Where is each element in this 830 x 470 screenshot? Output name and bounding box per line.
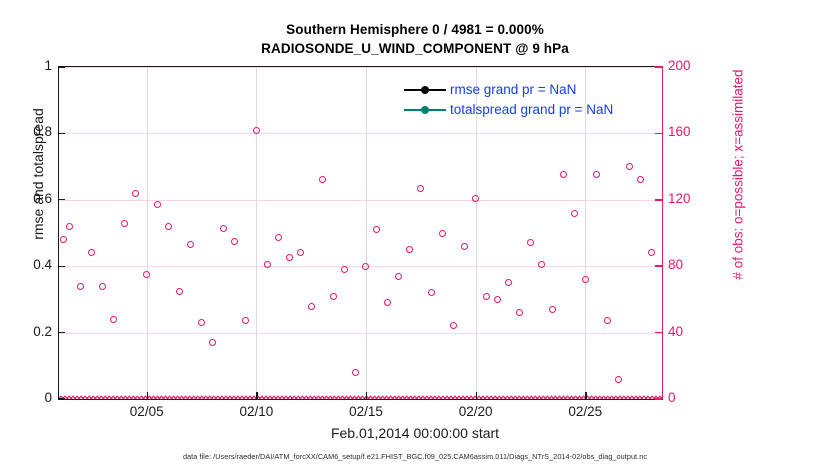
obs-possible-marker <box>428 289 435 296</box>
obs-possible-marker <box>538 261 545 268</box>
y-axis-left-tick <box>58 199 65 200</box>
obs-possible-marker <box>99 283 106 290</box>
obs-possible-marker <box>571 210 578 217</box>
legend-label-rmse: rmse grand pr = NaN <box>450 80 576 100</box>
gridline-vertical <box>147 67 148 399</box>
legend-marker-rmse-icon <box>404 84 446 96</box>
obs-possible-marker <box>66 223 73 230</box>
obs-possible-marker <box>209 339 216 346</box>
y-axis-right-tick <box>655 199 662 201</box>
legend-label-totalspread: totalspread grand pr = NaN <box>450 100 613 120</box>
obs-possible-marker <box>439 230 446 237</box>
obs-possible-marker <box>560 171 567 178</box>
obs-possible-marker <box>253 127 260 134</box>
obs-possible-marker <box>297 249 304 256</box>
y-axis-right-tick-label: 80 <box>668 257 708 272</box>
y-axis-right-tick-label: 200 <box>668 58 708 73</box>
obs-possible-marker <box>187 241 194 248</box>
chart-legend: rmse grand pr = NaN totalspread grand pr… <box>404 80 613 120</box>
obs-possible-marker <box>341 266 348 273</box>
gridline-horizontal <box>59 333 662 334</box>
x-axis-tick <box>147 392 148 399</box>
obs-possible-marker <box>450 322 457 329</box>
legend-item-totalspread[interactable]: totalspread grand pr = NaN <box>404 100 613 120</box>
y-axis-left-tick <box>58 332 65 333</box>
obs-possible-marker <box>60 236 67 243</box>
obs-possible-marker <box>352 369 359 376</box>
x-axis-tick <box>585 392 586 399</box>
obs-possible-marker <box>330 293 337 300</box>
chart-root: Southern Hemisphere 0 / 4981 = 0.000% RA… <box>0 0 830 470</box>
obs-possible-marker <box>395 273 402 280</box>
legend-marker-totalspread-icon <box>404 104 446 116</box>
x-axis-tick <box>476 392 477 399</box>
obs-possible-marker <box>176 288 183 295</box>
x-axis-tick-label: 02/10 <box>221 404 291 419</box>
y-axis-right-tick-label: 0 <box>668 390 708 405</box>
obs-possible-marker <box>308 303 315 310</box>
y-axis-left-tick-label: 0 <box>0 390 52 405</box>
obs-possible-marker <box>593 171 600 178</box>
y-axis-left-tick <box>58 398 65 399</box>
chart-title: Southern Hemisphere 0 / 4981 = 0.000% RA… <box>0 20 830 58</box>
obs-possible-marker <box>286 254 293 261</box>
y-axis-left-label: rmse and totalspread <box>30 44 46 304</box>
obs-possible-marker <box>582 276 589 283</box>
obs-possible-marker <box>319 176 326 183</box>
obs-possible-marker <box>472 195 479 202</box>
obs-possible-marker <box>373 226 380 233</box>
obs-possible-marker <box>483 293 490 300</box>
y-axis-right-tick <box>655 133 662 135</box>
obs-possible-marker <box>417 185 424 192</box>
obs-possible-marker <box>648 249 655 256</box>
y-axis-left-tick <box>58 266 65 267</box>
y-axis-right-label: # of obs: o=possible; x=assimilated <box>731 25 746 325</box>
y-axis-right-tick <box>655 265 662 267</box>
data-file-footer: data file: /Users/raeder/DAI/ATM_forcXX/… <box>0 452 830 461</box>
obs-possible-marker <box>362 263 369 270</box>
x-axis-tick <box>256 392 257 399</box>
obs-possible-marker <box>527 239 534 246</box>
obs-possible-marker <box>626 163 633 170</box>
obs-possible-marker <box>637 176 644 183</box>
obs-possible-marker <box>615 376 622 383</box>
obs-possible-marker <box>132 190 139 197</box>
obs-possible-marker <box>505 279 512 286</box>
obs-possible-marker <box>242 317 249 324</box>
y-axis-right-tick <box>655 66 662 68</box>
obs-possible-marker <box>154 201 161 208</box>
obs-possible-marker <box>165 223 172 230</box>
gridline-horizontal <box>59 266 662 267</box>
x-axis-tick-label: 02/25 <box>550 404 620 419</box>
y-axis-right-tick-label: 120 <box>668 191 708 206</box>
obs-possible-marker <box>275 234 282 241</box>
y-axis-left-tick <box>58 133 65 134</box>
y-axis-left-tick-label: 0.2 <box>0 324 52 339</box>
x-axis-tick-label: 02/15 <box>331 404 401 419</box>
obs-possible-marker <box>406 246 413 253</box>
obs-possible-marker <box>220 225 227 232</box>
gridline-horizontal <box>59 133 662 134</box>
chart-title-line-2: RADIOSONDE_U_WIND_COMPONENT @ 9 hPa <box>0 39 830 58</box>
x-axis-tick <box>366 392 367 399</box>
y-axis-right-tick-label: 160 <box>668 124 708 139</box>
obs-possible-marker <box>604 317 611 324</box>
gridline-vertical <box>366 67 367 399</box>
obs-possible-marker <box>549 306 556 313</box>
obs-possible-marker <box>231 238 238 245</box>
obs-possible-marker <box>143 271 150 278</box>
obs-possible-marker <box>264 261 271 268</box>
y-axis-left-tick <box>58 66 65 67</box>
legend-item-rmse[interactable]: rmse grand pr = NaN <box>404 80 613 100</box>
y-axis-right-tick <box>655 332 662 334</box>
obs-possible-marker <box>384 299 391 306</box>
obs-possible-marker <box>88 249 95 256</box>
obs-possible-marker <box>516 309 523 316</box>
obs-possible-marker <box>494 296 501 303</box>
obs-possible-marker <box>77 283 84 290</box>
x-axis-label: Feb.01,2014 00:00:00 start <box>0 425 830 441</box>
gridline-vertical <box>256 67 257 399</box>
obs-possible-marker <box>198 319 205 326</box>
gridline-horizontal <box>59 200 662 201</box>
y-axis-right-tick <box>655 398 662 400</box>
obs-possible-marker <box>121 220 128 227</box>
x-axis-tick-label: 02/20 <box>441 404 511 419</box>
obs-possible-marker <box>461 243 468 250</box>
x-axis-tick-label: 02/05 <box>112 404 182 419</box>
y-axis-right-tick-label: 40 <box>668 324 708 339</box>
obs-possible-marker <box>110 316 117 323</box>
chart-title-line-1: Southern Hemisphere 0 / 4981 = 0.000% <box>0 20 830 39</box>
gridline-horizontal <box>59 67 662 68</box>
